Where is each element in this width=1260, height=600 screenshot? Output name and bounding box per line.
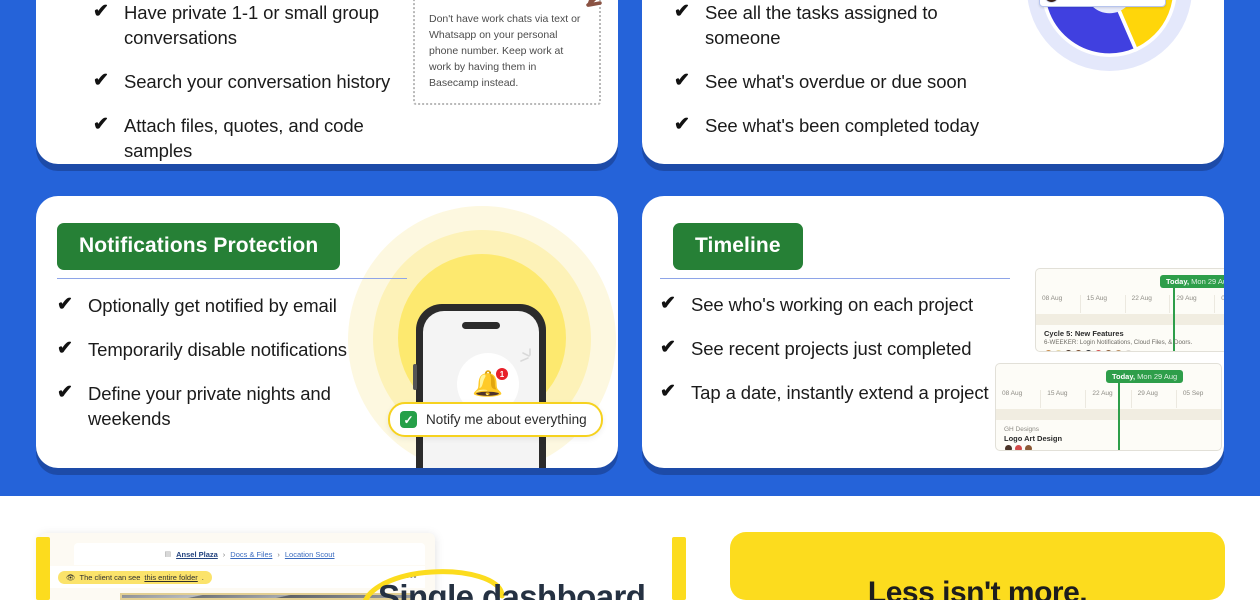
list-item-label: See what's overdue or due soon bbox=[705, 69, 967, 94]
list-item-label: Optionally get notified by email bbox=[88, 293, 337, 318]
checkbox-checked-icon[interactable]: ✓ bbox=[400, 411, 417, 428]
page-title: Single dashboard bbox=[378, 578, 645, 600]
date-tick: 29 Aug bbox=[1131, 390, 1176, 408]
check-icon: ✔ bbox=[57, 382, 74, 403]
donut-chart bbox=[1027, 0, 1192, 71]
date-tick: 15 Aug bbox=[1080, 295, 1125, 313]
avatar bbox=[1044, 349, 1053, 352]
avatar bbox=[1004, 444, 1013, 451]
avatar bbox=[1114, 349, 1123, 352]
timeline-entry-title: Logo Art Design bbox=[1004, 434, 1215, 443]
accent-bar-left bbox=[36, 537, 50, 600]
hill-chart-update-badge[interactable]: Liza R. updated the Hill Chart bbox=[1039, 0, 1166, 7]
list-item: ✔ Define your private nights and weekend… bbox=[57, 381, 397, 431]
list-item-label: Define your private nights and weekends bbox=[88, 381, 397, 431]
notification-count-badge: 1 bbox=[495, 367, 509, 381]
list-item-label: See who's working on each project bbox=[691, 292, 973, 317]
breadcrumb: ▤ Ansel Plaza › Docs & Files › Location … bbox=[74, 543, 425, 565]
check-icon: ✔ bbox=[674, 70, 691, 91]
list-item-label: See recent projects just completed bbox=[691, 336, 971, 361]
list-item: ✔ Optionally get notified by email bbox=[57, 293, 397, 318]
notifications-bullet-list: ✔ Optionally get notified by email ✔ Tem… bbox=[57, 293, 397, 450]
chat-bullet-list: ✔ Have private 1-1 or small group conver… bbox=[93, 0, 423, 164]
dashboard-notice-row: 👁 The client can see this entire folder.… bbox=[50, 566, 425, 588]
list-item: ✔ Have private 1-1 or small group conver… bbox=[93, 0, 423, 50]
breadcrumb-item-folder[interactable]: Location Scout bbox=[285, 550, 335, 559]
check-icon: ✔ bbox=[660, 381, 677, 402]
avatar bbox=[1054, 349, 1063, 352]
list-item: ✔ Temporarily disable notifications bbox=[57, 337, 397, 362]
timeline-date-axis: 08 Aug 15 Aug 22 Aug 29 Aug 05 Sep bbox=[1036, 295, 1224, 313]
hill-chart-illustration: Liza R. updated the Hill Chart bbox=[1027, 0, 1192, 71]
list-item-label: Tap a date, instantly extend a project bbox=[691, 380, 989, 405]
eye-icon: 👁 bbox=[66, 573, 76, 582]
feature-card-my-assignments: ✔ See all the tasks assigned to someone … bbox=[642, 0, 1224, 164]
avatar-stack bbox=[1004, 444, 1215, 451]
avatar bbox=[1024, 444, 1033, 451]
notify-everything-toast[interactable]: ✓ Notify me about everything bbox=[388, 402, 603, 437]
avatar bbox=[1104, 349, 1113, 352]
timeline-widget-cycle5[interactable]: Today, Mon 29 Aug 08 Aug 15 Aug 22 Aug 2… bbox=[1035, 268, 1224, 352]
phone-mockup: 🔔 1 bbox=[416, 304, 546, 468]
sparkle-lines-icon bbox=[518, 347, 539, 369]
check-icon: ✔ bbox=[57, 294, 74, 315]
check-icon: ✔ bbox=[93, 114, 110, 135]
list-item: ✔ Attach files, quotes, and code samples bbox=[93, 113, 423, 163]
list-item-label: Temporarily disable notifications bbox=[88, 337, 347, 362]
today-bold: Today, bbox=[1166, 277, 1189, 286]
avatar bbox=[1074, 349, 1083, 352]
phone-screen: 🔔 1 bbox=[423, 311, 539, 468]
accent-bar-right bbox=[672, 537, 686, 600]
today-marker-label: Today, Mon 29 Aug bbox=[1160, 275, 1224, 288]
date-tick: 08 Aug bbox=[996, 390, 1040, 408]
divider bbox=[57, 278, 407, 279]
timeline-strip bbox=[996, 409, 1221, 420]
avatar bbox=[1044, 0, 1059, 3]
list-item-label: Attach files, quotes, and code samples bbox=[124, 113, 423, 163]
avatar bbox=[1064, 349, 1073, 352]
check-icon: ✔ bbox=[93, 70, 110, 91]
timeline-widget-logo-art[interactable]: Today, Mon 29 Aug 08 Aug 15 Aug 22 Aug 2… bbox=[995, 363, 1222, 451]
tip-note-text: Don't have work chats via text or Whatsa… bbox=[429, 11, 585, 91]
notice-text: The client can see bbox=[80, 573, 141, 582]
tasks-bullet-list: ✔ See all the tasks assigned to someone … bbox=[674, 0, 1004, 157]
check-icon: ✔ bbox=[674, 1, 691, 22]
timeline-entry-subtitle: GH Designs bbox=[1004, 426, 1215, 433]
list-item: ✔ Search your conversation history bbox=[93, 69, 423, 94]
feature-card-notifications-protection: 🔔 1 ✓ Notify me about everything Notific… bbox=[36, 196, 618, 468]
promo-card: Less isn't more, bbox=[730, 532, 1225, 600]
timeline-bullet-list: ✔ See who's working on each project ✔ Se… bbox=[660, 292, 990, 424]
today-bold: Today, bbox=[1112, 372, 1135, 381]
toast-label: Notify me about everything bbox=[426, 412, 587, 427]
folder-icon: ▤ bbox=[164, 550, 171, 558]
dashboard-screenshot: ▤ Ansel Plaza › Docs & Files › Location … bbox=[40, 533, 435, 600]
section-title-notifications: Notifications Protection bbox=[57, 223, 340, 270]
list-item-label: Have private 1-1 or small group conversa… bbox=[124, 0, 423, 50]
avatar-stack: +3 bbox=[1044, 349, 1224, 352]
list-item: ✔ See what's been completed today bbox=[674, 113, 1004, 138]
list-item-label: See what's been completed today bbox=[705, 113, 979, 138]
timeline-entry-title: Cycle 5: New Features bbox=[1044, 329, 1224, 338]
promo-card-title: Less isn't more, bbox=[730, 576, 1225, 600]
list-item-label: See all the tasks assigned to someone bbox=[705, 0, 1004, 50]
date-tick: 22 Aug bbox=[1085, 390, 1130, 408]
date-tick: 05 Sep bbox=[1214, 295, 1224, 313]
date-tick: 29 Aug bbox=[1169, 295, 1214, 313]
today-date: Mon 29 Aug bbox=[1135, 372, 1177, 381]
date-tick: 05 Sep bbox=[1176, 390, 1221, 408]
feature-card-chat: ✔ Have private 1-1 or small group conver… bbox=[36, 0, 618, 164]
breadcrumb-separator: › bbox=[223, 550, 226, 559]
today-date: Mon 29 Aug bbox=[1189, 277, 1224, 286]
timeline-strip bbox=[1036, 314, 1224, 325]
feature-card-timeline: Timeline ✔ See who's working on each pro… bbox=[642, 196, 1224, 468]
breadcrumb-item-docs[interactable]: Docs & Files bbox=[230, 550, 272, 559]
check-icon: ✔ bbox=[93, 1, 110, 22]
list-item: ✔ Tap a date, instantly extend a project bbox=[660, 380, 990, 405]
divider bbox=[660, 278, 1010, 279]
avatar bbox=[1124, 349, 1133, 352]
curved-arrow-icon bbox=[556, 0, 616, 17]
avatar-overflow-count: +3 bbox=[1137, 351, 1143, 353]
date-tick: 08 Aug bbox=[1036, 295, 1080, 313]
location-photo bbox=[120, 593, 413, 600]
breadcrumb-separator: › bbox=[277, 550, 280, 559]
check-icon: ✔ bbox=[674, 114, 691, 135]
avatar bbox=[1094, 349, 1103, 352]
notifications-title-pill-wrap: Notifications Protection bbox=[57, 223, 340, 270]
check-icon: ✔ bbox=[660, 337, 677, 358]
breadcrumb-item-project[interactable]: Ansel Plaza bbox=[176, 550, 218, 559]
timeline-date-axis: 08 Aug 15 Aug 22 Aug 29 Aug 05 Sep bbox=[996, 390, 1221, 408]
phone-notch bbox=[462, 322, 500, 329]
page-root: ✔ Have private 1-1 or small group conver… bbox=[0, 0, 1260, 600]
list-item: ✔ See who's working on each project bbox=[660, 292, 990, 317]
phone-side-button-icon bbox=[413, 364, 417, 390]
date-tick: 22 Aug bbox=[1125, 295, 1170, 313]
list-item: ✔ See all the tasks assigned to someone bbox=[674, 0, 1004, 50]
section-title-timeline: Timeline bbox=[673, 223, 803, 270]
check-icon: ✔ bbox=[660, 293, 677, 314]
avatar bbox=[1084, 349, 1093, 352]
list-item: ✔ See recent projects just completed bbox=[660, 336, 990, 361]
timeline-title-pill-wrap: Timeline bbox=[673, 223, 803, 270]
notice-text-end: . bbox=[202, 573, 204, 582]
client-visibility-notice: 👁 The client can see this entire folder. bbox=[58, 571, 212, 584]
avatar bbox=[1014, 444, 1023, 451]
check-icon: ✔ bbox=[57, 338, 74, 359]
date-tick: 15 Aug bbox=[1040, 390, 1085, 408]
timeline-entry-description: 6-WEEKER: Login Notifications, Cloud Fil… bbox=[1044, 339, 1224, 346]
list-item: ✔ See what's overdue or due soon bbox=[674, 69, 1004, 94]
notice-link[interactable]: this entire folder bbox=[144, 573, 197, 582]
timeline-entry: GH Designs Logo Art Design bbox=[1004, 426, 1215, 451]
timeline-entry: Cycle 5: New Features 6-WEEKER: Login No… bbox=[1044, 329, 1224, 352]
list-item-label: Search your conversation history bbox=[124, 69, 390, 94]
